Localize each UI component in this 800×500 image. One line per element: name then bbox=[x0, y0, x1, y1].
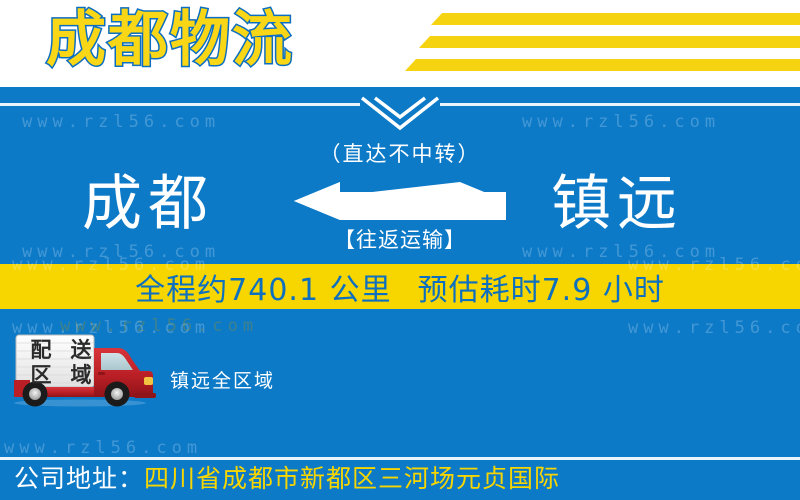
header-stripe-3 bbox=[416, 59, 800, 71]
company-address: 公司地址：四川省成都市新都区三河场元贞国际 bbox=[14, 462, 560, 496]
double-chevron-down-icon bbox=[358, 94, 442, 136]
origin-city: 成都 bbox=[82, 168, 214, 240]
coverage-area-text: 镇远全区域 bbox=[170, 366, 275, 393]
header-stripes-decoration bbox=[400, 8, 800, 78]
header-stripe-1 bbox=[442, 13, 800, 25]
roundtrip-note: 【往返运输】 bbox=[288, 224, 512, 254]
banner-header: 成都物流 bbox=[0, 0, 800, 87]
watermark-9: www.rzl56.com bbox=[628, 255, 800, 275]
double-headed-arrow-icon bbox=[288, 178, 512, 224]
direct-service-note: （直达不中转） bbox=[0, 138, 800, 168]
truck-box-char-4: 域 bbox=[61, 363, 101, 388]
truck-box-char-2: 送 bbox=[61, 338, 101, 363]
company-address-value: 四川省成都市新都区三河场元贞国际 bbox=[144, 464, 560, 493]
truck-box-label: 配 送 区 域 bbox=[21, 337, 101, 389]
truck-box-char-1: 配 bbox=[21, 338, 61, 363]
watermark-10: www.rzl56.com bbox=[4, 438, 202, 458]
watermark-7: www.rzl56.com bbox=[12, 318, 210, 338]
watermark-8: www.rzl56.com bbox=[628, 318, 800, 338]
truck-box-char-3: 区 bbox=[21, 363, 61, 388]
watermark-5: www.rzl56.com bbox=[12, 255, 210, 275]
destination-city: 镇远 bbox=[551, 168, 683, 240]
watermark-1: www.rzl56.com bbox=[22, 112, 220, 132]
header-stripe-2 bbox=[430, 36, 800, 48]
company-address-label: 公司地址： bbox=[14, 464, 144, 493]
brand-title: 成都物流 bbox=[46, 2, 294, 78]
logistics-route-banner: 成都物流 （直达不中转） 成都 镇远 【往返运输】 bbox=[0, 0, 800, 500]
watermark-2: www.rzl56.com bbox=[522, 112, 720, 132]
